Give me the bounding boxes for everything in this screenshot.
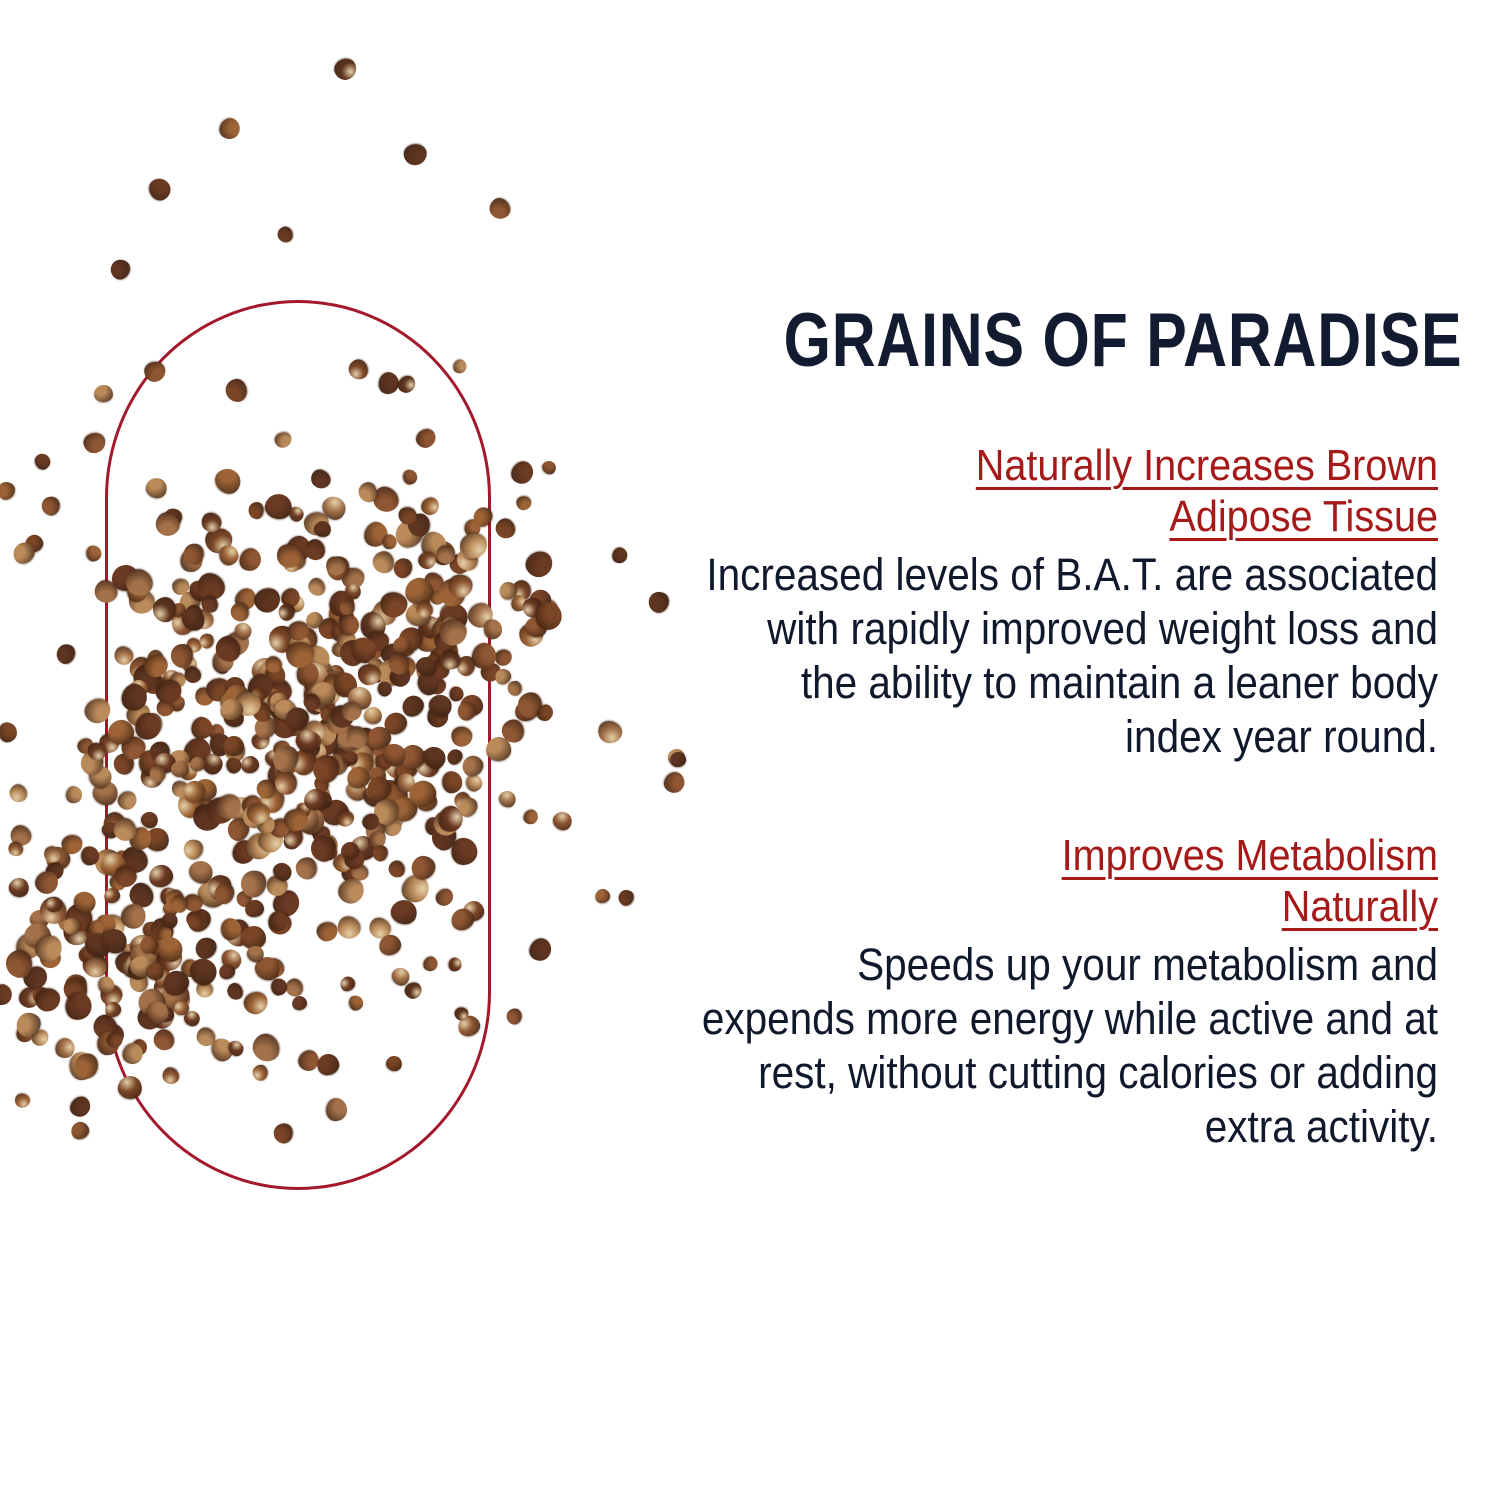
seed [263,492,294,522]
grains-of-paradise-seed-pile [0,330,690,1140]
seed [64,990,94,1021]
seed [507,680,522,696]
seed [448,956,463,972]
seed [336,809,356,828]
benefit-block-2: Improves Metabolism Naturally Speeds up … [620,830,1438,1154]
seed [61,834,84,855]
seed [86,545,103,563]
seed [244,899,265,919]
seed [149,764,166,782]
seed [150,1026,178,1054]
seed [441,770,463,793]
seed [65,785,84,805]
product-visual [0,0,700,1500]
seed [6,782,30,806]
seed [395,373,419,397]
seed [224,377,249,404]
seed [218,544,241,568]
seed [225,981,246,1002]
copy-column: GRAINS OF PARADISE Naturally Increases B… [620,300,1438,1154]
seed [143,361,166,383]
seed [337,974,357,993]
benefit-body-2: Speeds up your metabolism and expends mo… [702,938,1438,1154]
seed [275,224,294,244]
seed [81,694,115,727]
seed [483,619,503,640]
seed [116,1074,144,1101]
seed [402,468,418,485]
seed [144,475,170,500]
seed [253,1064,269,1081]
seed [312,519,333,539]
seed [248,1029,284,1066]
seed [216,115,244,144]
seed [421,954,441,974]
seed [275,771,297,795]
seed [39,494,61,517]
seed [314,1051,342,1078]
benefit-heading-1: Naturally Increases Brown Adipose Tissue [702,440,1438,542]
benefit-heading-2: Improves Metabolism Naturally [702,830,1438,932]
seed [324,1097,348,1123]
seed [0,981,15,1007]
benefit-heading-2-line-1: Improves Metabolism [1062,831,1438,880]
seed [386,859,407,880]
seed [0,721,18,742]
seed [384,1054,404,1073]
seed [522,547,557,581]
seed [391,556,416,581]
seed [270,977,288,996]
seed [433,885,457,909]
seed [248,502,265,520]
seed [236,545,265,575]
seed [67,1092,95,1120]
seed [535,601,563,630]
benefit-block-1: Naturally Increases Brown Adipose Tissue… [620,440,1438,764]
seed [171,761,189,778]
seed [6,876,31,900]
page-title: GRAINS OF PARADISE [784,300,1438,382]
seed [146,175,175,204]
seed [241,989,270,1017]
seed [159,1065,182,1088]
seed [516,495,532,510]
seed [539,458,559,477]
benefit-heading-1-line-2: Adipose Tissue [1169,492,1438,541]
seed [505,1007,522,1025]
seed [180,836,206,862]
seed [307,466,334,493]
seed [147,862,176,889]
seed [107,256,133,283]
seed [273,429,294,449]
benefit-heading-2-line-2: Naturally [1282,882,1438,931]
seed [210,463,245,498]
seed [345,356,370,382]
seed [68,1118,92,1141]
seed [34,987,61,1013]
seed [82,432,107,456]
seed [305,576,327,599]
seed [221,918,242,940]
seed [115,788,140,812]
seed [492,515,518,542]
seed [451,837,478,866]
seed [486,195,514,224]
seed [315,920,339,942]
benefit-heading-1-line-1: Naturally Increases Brown [976,441,1438,490]
benefit-body-1: Increased levels of B.A.T. are associate… [702,548,1438,764]
seed [13,1092,31,1109]
seed [550,808,576,834]
seed [451,357,469,375]
seed [525,934,556,965]
seed [339,599,354,616]
seed [290,995,308,1012]
seed [370,549,395,575]
seed [0,478,19,503]
seed [507,457,538,488]
seed [32,451,52,472]
seed [593,888,611,906]
seed [413,425,440,451]
seed [53,642,78,668]
seed [94,385,113,403]
seed [496,788,519,810]
seed [296,857,318,880]
seed [520,806,541,827]
seed [330,55,359,83]
seed [349,994,365,1011]
seed [450,726,474,749]
seed [403,143,428,166]
